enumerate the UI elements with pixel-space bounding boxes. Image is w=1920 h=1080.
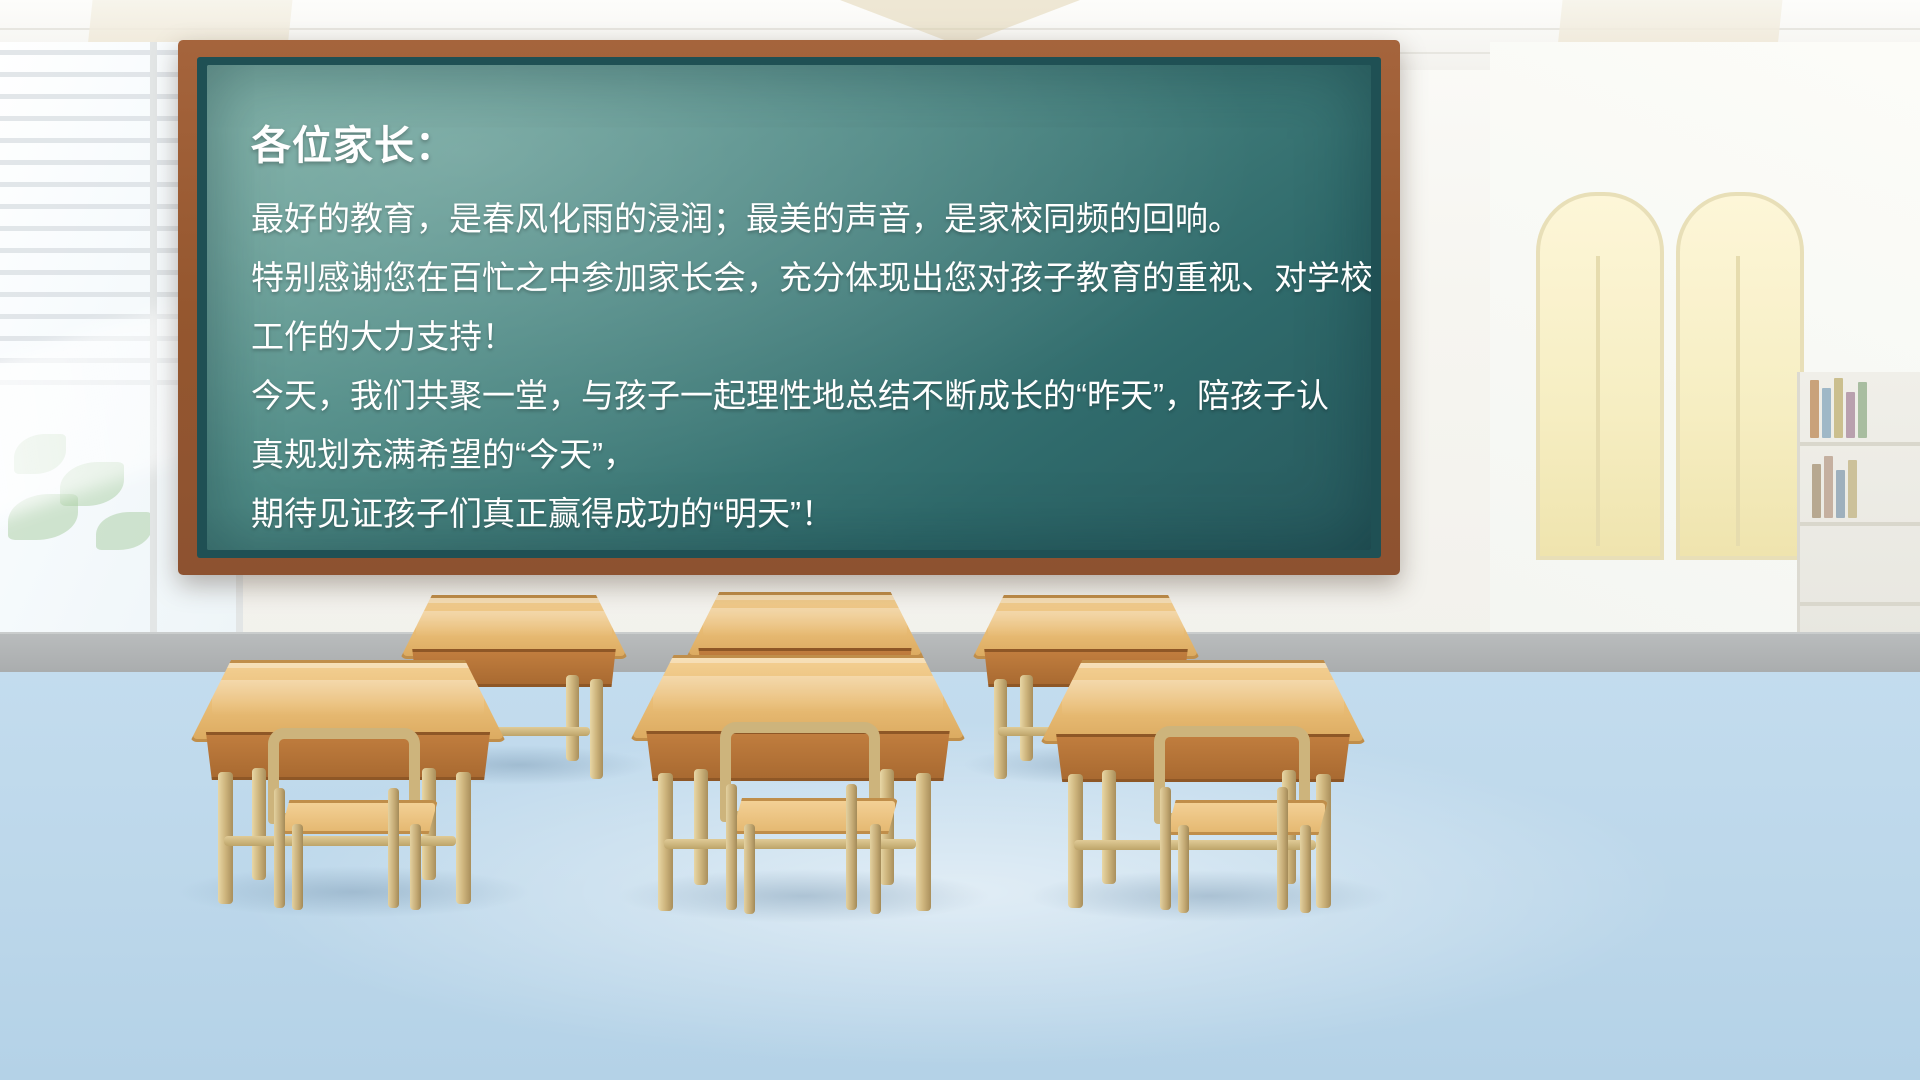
blackboard: 各位家长： 最好的教育，是春风化雨的浸润；最美的声音，是家校同频的回响。 特别感… bbox=[178, 40, 1400, 575]
blackboard-line-1: 最好的教育，是春风化雨的浸润；最美的声音，是家校同频的回响。 bbox=[251, 189, 1349, 248]
foliage-icon bbox=[96, 512, 152, 550]
blackboard-line-5: 真规划充满希望的“今天”， bbox=[251, 425, 1349, 484]
arched-window bbox=[1536, 192, 1664, 560]
chair-front-right bbox=[1148, 726, 1333, 921]
arched-window bbox=[1676, 192, 1804, 560]
chair-front-center bbox=[714, 722, 904, 922]
slide-canvas: 各位家长： 最好的教育，是春风化雨的浸润；最美的声音，是家校同频的回响。 特别感… bbox=[0, 0, 1920, 1080]
blackboard-line-3: 工作的大力支持！ bbox=[251, 307, 1349, 366]
blackboard-line-6: 期待见证孩子们真正赢得成功的“明天”！ bbox=[251, 484, 1349, 543]
window-right bbox=[1490, 42, 1920, 632]
blackboard-text-block: 各位家长： 最好的教育，是春风化雨的浸润；最美的声音，是家校同频的回响。 特别感… bbox=[251, 113, 1349, 543]
blackboard-title: 各位家长： bbox=[251, 113, 1349, 171]
blackboard-surface: 各位家长： 最好的教育，是春风化雨的浸润；最美的声音，是家校同频的回响。 特别感… bbox=[207, 65, 1371, 550]
chair-front-left bbox=[262, 728, 442, 918]
blackboard-line-4: 今天，我们共聚一堂，与孩子一起理性地总结不断成长的“昨天”，陪孩子认 bbox=[251, 366, 1349, 425]
ceiling-light-right bbox=[1557, 0, 1782, 48]
blackboard-line-2: 特别感谢您在百忙之中参加家长会，充分体现出您对孩子教育的重视、对学校 bbox=[251, 248, 1349, 307]
bookshelf bbox=[1797, 372, 1920, 672]
